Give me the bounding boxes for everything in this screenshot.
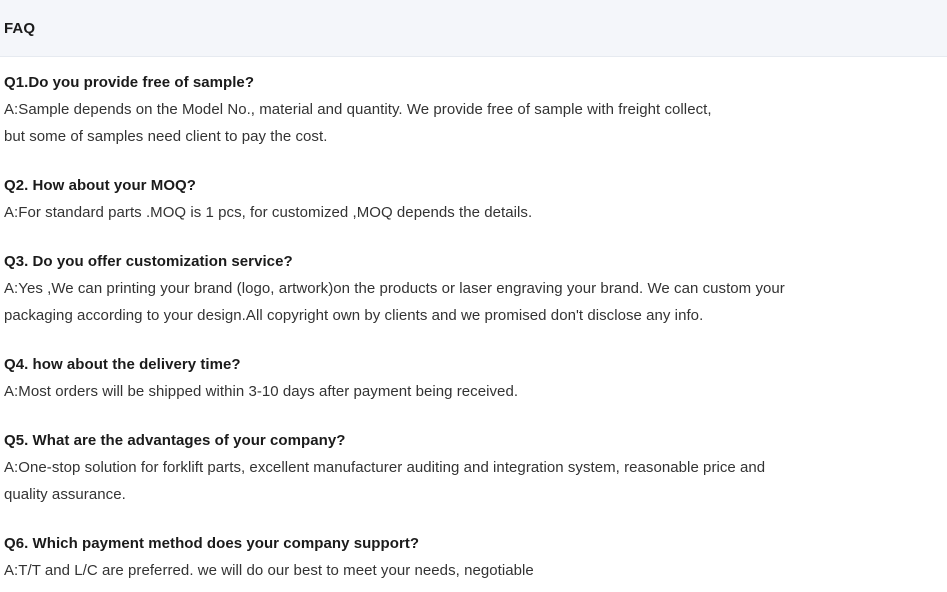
faq-question: Q4. how about the delivery time?	[4, 351, 943, 378]
faq-question: Q3. Do you offer customization service?	[4, 248, 943, 275]
faq-answer-line: A:Most orders will be shipped within 3-1…	[4, 378, 943, 405]
faq-answer-line: quality assurance.	[4, 481, 943, 508]
faq-question: Q5. What are the advantages of your comp…	[4, 427, 943, 454]
faq-question: Q2. How about your MOQ?	[4, 172, 943, 199]
faq-answer-line: but some of samples need client to pay t…	[4, 123, 943, 150]
faq-answer-line: A:Yes ,We can printing your brand (logo,…	[4, 275, 943, 302]
faq-answer-line: packaging according to your design.All c…	[4, 302, 943, 329]
faq-answer-line: A:One-stop solution for forklift parts, …	[4, 454, 943, 481]
faq-question: Q6. Which payment method does your compa…	[4, 530, 943, 557]
faq-list: Q1.Do you provide free of sample? A:Samp…	[0, 57, 947, 592]
faq-item: Q1.Do you provide free of sample? A:Samp…	[4, 69, 943, 150]
faq-panel: FAQ Q1.Do you provide free of sample? A:…	[0, 0, 947, 592]
faq-item: Q3. Do you offer customization service? …	[4, 248, 943, 329]
page-title: FAQ	[4, 21, 35, 36]
faq-answer-line: A:Sample depends on the Model No., mater…	[4, 96, 943, 123]
faq-header: FAQ	[0, 0, 947, 57]
faq-answer-line: A:For standard parts .MOQ is 1 pcs, for …	[4, 199, 943, 226]
faq-item: Q6. Which payment method does your compa…	[4, 530, 943, 584]
faq-item: Q2. How about your MOQ? A:For standard p…	[4, 172, 943, 226]
faq-item: Q4. how about the delivery time? A:Most …	[4, 351, 943, 405]
faq-answer-line: A:T/T and L/C are preferred. we will do …	[4, 557, 943, 584]
faq-question: Q1.Do you provide free of sample?	[4, 69, 943, 96]
faq-item: Q5. What are the advantages of your comp…	[4, 427, 943, 508]
